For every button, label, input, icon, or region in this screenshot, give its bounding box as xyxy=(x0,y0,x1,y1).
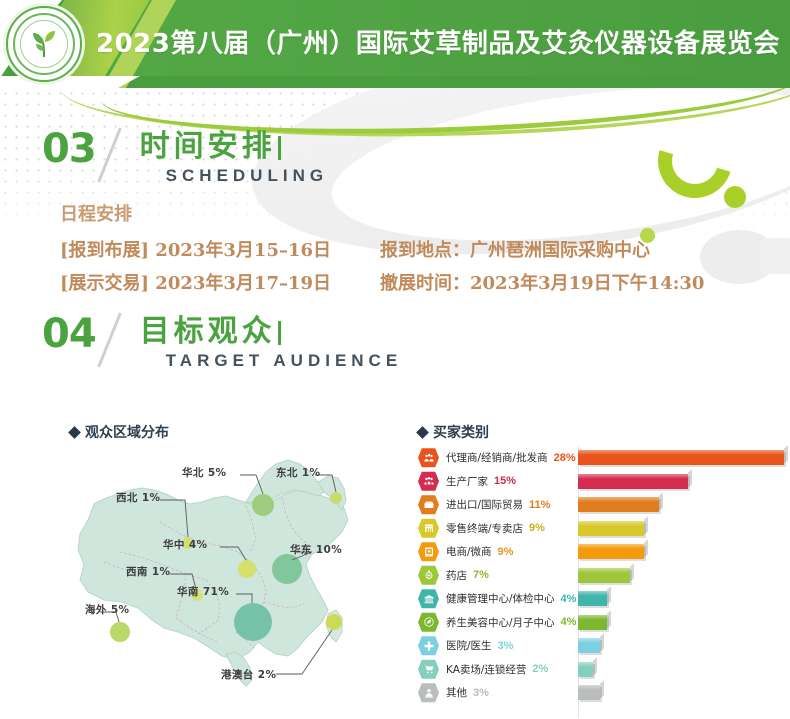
leaf-emblem-logo xyxy=(6,6,82,82)
shopping-cart-icon xyxy=(418,659,439,680)
bar-category-label: 药店 xyxy=(446,568,467,583)
hospital-cross-icon xyxy=(418,635,439,656)
bar-category-label: KA卖场/连锁经营 xyxy=(446,662,526,677)
map-label-dongbei: 东北 1% xyxy=(276,465,320,480)
bar-fill xyxy=(578,662,593,677)
bar-chart-title: 买家类别 xyxy=(418,422,489,442)
bar-track xyxy=(578,658,790,682)
grey-blob-small xyxy=(760,238,790,274)
bar-value-label: 4% xyxy=(561,593,577,605)
bar-chart-row: 代理商/经销商/批发商28% xyxy=(410,446,790,470)
pharmacy-bottle-icon xyxy=(418,565,439,586)
china-map-canvas: 华北 5% 东北 1% 西北 1% 华中 4% 华东 10% 西南 1% 华南 … xyxy=(60,442,400,714)
bar-fill xyxy=(578,450,784,465)
shipping-box-icon xyxy=(418,494,439,515)
schedule-heading: 日程安排 xyxy=(60,200,704,226)
bar-category-label: 进出口/国际贸易 xyxy=(446,497,523,512)
section-title-cn: 目标观众 xyxy=(140,315,403,349)
map-label-gangaotai: 港澳台 2% xyxy=(221,667,276,682)
bar-track xyxy=(578,540,790,564)
section-heading-audience: 04 目标观众 TARGET AUDIENCE xyxy=(42,315,402,371)
beauty-spa-icon xyxy=(418,612,439,633)
buyer-category-chart-panel: 买家类别 代理商/经销商/批发商28%生产厂家15%进出口/国际贸易11%零售终… xyxy=(410,408,790,718)
bar-category-label: 其他 xyxy=(446,685,467,700)
bar-value-label: 7% xyxy=(473,569,489,581)
bar-value-label: 3% xyxy=(498,640,514,652)
bar-fill xyxy=(578,685,600,700)
bar-category-label: 代理商/经销商/批发商 xyxy=(446,450,548,465)
slash-divider-icon xyxy=(100,315,134,367)
bar-fill xyxy=(578,591,607,606)
bar-chart-row: 其他3% xyxy=(410,681,790,705)
title-accent-bar xyxy=(278,321,281,345)
bar-category-label: 零售终端/专卖店 xyxy=(446,521,523,536)
bar-chart-row: 零售终端/专卖店9% xyxy=(410,517,790,541)
bar-chart-row: 医院/医生3% xyxy=(410,634,790,658)
bar-chart-row: 进出口/国际贸易11% xyxy=(410,493,790,517)
bar-fill xyxy=(578,638,600,653)
map-chart-title: 观众区域分布 xyxy=(70,422,169,442)
bar-chart-row: 健康管理中心/体检中心4% xyxy=(410,587,790,611)
bar-value-label: 15% xyxy=(494,475,516,487)
bar-track xyxy=(578,587,790,611)
map-label-huadong: 华东 10% xyxy=(290,542,342,557)
title-accent-bar xyxy=(278,136,281,160)
bar-value-label: 4% xyxy=(561,616,577,628)
bar-fill xyxy=(578,544,644,559)
bar-fill xyxy=(578,497,659,512)
bar-category-label: 生产厂家 xyxy=(446,474,488,489)
bar-value-label: 11% xyxy=(529,499,550,511)
agent-people-icon xyxy=(418,447,439,468)
map-label-huazhong: 华中 4% xyxy=(163,537,207,552)
audience-region-map-panel: 观众区域分布 xyxy=(60,408,400,718)
bar-chart-row: 电商/微商9% xyxy=(410,540,790,564)
bar-track xyxy=(578,611,790,635)
map-label-xibei: 西北 1% xyxy=(116,490,160,505)
bar-fill xyxy=(578,521,644,536)
map-label-huanan: 华南 71% xyxy=(177,584,229,599)
bar-track xyxy=(578,564,790,588)
map-label-haiwai: 海外 5% xyxy=(85,602,129,617)
bar-chart-row: 生产厂家15% xyxy=(410,470,790,494)
section-heading-scheduling: 03 时间安排 SCHEDULING xyxy=(42,130,328,186)
map-label-xinan: 西南 1% xyxy=(126,564,170,579)
bar-chart-row: KA卖场/连锁经营2% xyxy=(410,658,790,682)
bar-chart-row: 药店7% xyxy=(410,564,790,588)
bar-value-label: 9% xyxy=(529,522,545,534)
schedule-setup-dates: [报到布展] 2023年3月15–16日 xyxy=(60,236,380,262)
bar-fill xyxy=(578,615,607,630)
schedule-row: [展示交易] 2023年3月17–19日 撤展时间：2023年3月19日下午14… xyxy=(60,269,704,295)
bar-category-label: 健康管理中心/体检中心 xyxy=(446,591,555,606)
bar-value-label: 3% xyxy=(473,687,489,699)
bar-category-label: 电商/微商 xyxy=(446,544,492,559)
factory-people-icon xyxy=(418,471,439,492)
section-title-cn: 时间安排 xyxy=(140,130,328,164)
bar-track xyxy=(578,634,790,658)
bar-track xyxy=(578,681,790,705)
bar-track xyxy=(578,493,790,517)
bar-chart-row: 养生美容中心/月子中心4% xyxy=(410,611,790,635)
slash-divider-icon xyxy=(100,130,134,182)
ecommerce-phone-icon xyxy=(418,541,439,562)
bar-track xyxy=(578,446,790,470)
charts-row: 观众区域分布 xyxy=(0,408,790,718)
header-banner: 2023第八届（广州）国际艾草制品及艾灸仪器设备展览会 xyxy=(0,0,790,88)
section-number: 04 xyxy=(42,315,96,353)
bar-category-label: 医院/医生 xyxy=(446,638,492,653)
schedule-checkin-venue: 报到地点：广州琶洲国际采购中心 xyxy=(380,236,650,262)
map-label-huabei: 华北 5% xyxy=(182,465,226,480)
section-number: 03 xyxy=(42,130,96,168)
bar-value-label: 9% xyxy=(498,546,514,558)
diamond-bullet-icon xyxy=(68,426,81,439)
page-title: 2023第八届（广州）国际艾草制品及艾灸仪器设备展览会 xyxy=(96,20,784,68)
bar-track xyxy=(578,517,790,541)
diamond-bullet-icon xyxy=(416,426,429,439)
bar-fill xyxy=(578,568,630,583)
bar-value-label: 28% xyxy=(554,452,576,464)
green-dot-large xyxy=(724,186,746,208)
schedule-row: [报到布展] 2023年3月15–16日 报到地点：广州琶洲国际采购中心 xyxy=(60,236,704,262)
bar-category-label: 养生美容中心/月子中心 xyxy=(446,615,555,630)
schedule-teardown-time: 撤展时间：2023年3月19日下午14:30 xyxy=(380,269,704,295)
bar-value-label: 2% xyxy=(532,663,548,675)
bar-fill xyxy=(578,474,688,489)
bar-track xyxy=(578,470,790,494)
schedule-show-dates: [展示交易] 2023年3月17–19日 xyxy=(60,269,380,295)
bar-chart-rows: 代理商/经销商/批发商28%生产厂家15%进出口/国际贸易11%零售终端/专卖店… xyxy=(410,446,790,705)
section-title-en: SCHEDULING xyxy=(166,166,328,186)
section-title-en: TARGET AUDIENCE xyxy=(166,351,403,371)
other-person-icon xyxy=(418,682,439,703)
schedule-block: 日程安排 [报到布展] 2023年3月15–16日 报到地点：广州琶洲国际采购中… xyxy=(60,200,704,302)
retail-store-icon xyxy=(418,518,439,539)
health-center-icon xyxy=(418,588,439,609)
